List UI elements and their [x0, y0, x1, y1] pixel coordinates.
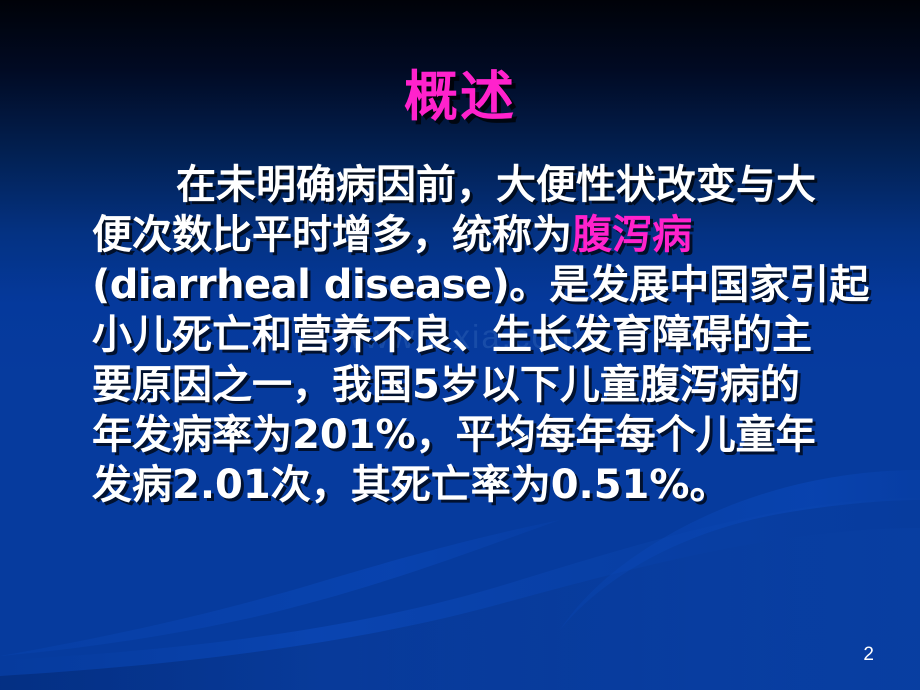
body-text: (diarrheal disease): [92, 262, 509, 308]
body-text: 要原因之一，我国5岁以下儿童腹泻病的: [92, 362, 800, 408]
body-line: 年发病率为201%，平均每年每个儿童年: [92, 410, 882, 460]
body-line: 便次数比平时增多，统称为腹泻病: [92, 210, 882, 260]
body-line: 发病2.01次，其死亡率为0.51%。: [92, 460, 882, 510]
slide-body: 在未明确病因前，大便性状改变与大便次数比平时增多，统称为腹泻病(diarrhea…: [92, 160, 882, 510]
body-text: 发病2.01次，其死亡率为0.51%。: [92, 462, 729, 508]
body-line: 在未明确病因前，大便性状改变与大: [92, 160, 882, 210]
body-text: 便次数比平时增多，统称为: [92, 212, 572, 258]
presentation-slide: www.zixia.com 概述 在未明确病因前，大便性状改变与大便次数比平时增…: [0, 0, 920, 690]
page-number: 2: [863, 644, 874, 666]
body-text: 小儿死亡和营养不良、生长发育障碍的主: [92, 312, 812, 358]
body-line: 要原因之一，我国5岁以下儿童腹泻病的: [92, 360, 882, 410]
body-line: (diarrheal disease)。是发展中国家引起: [92, 260, 882, 310]
body-text: 年发病率为201%，平均每年每个儿童年: [92, 412, 816, 458]
highlighted-term: 腹泻病: [572, 212, 692, 258]
body-text: 在未明确病因前，大便性状改变与大: [176, 162, 816, 208]
body-line: 小儿死亡和营养不良、生长发育障碍的主: [92, 310, 882, 360]
page-title: 概述: [0, 52, 920, 131]
body-text: 。是发展中国家引起: [509, 262, 869, 308]
